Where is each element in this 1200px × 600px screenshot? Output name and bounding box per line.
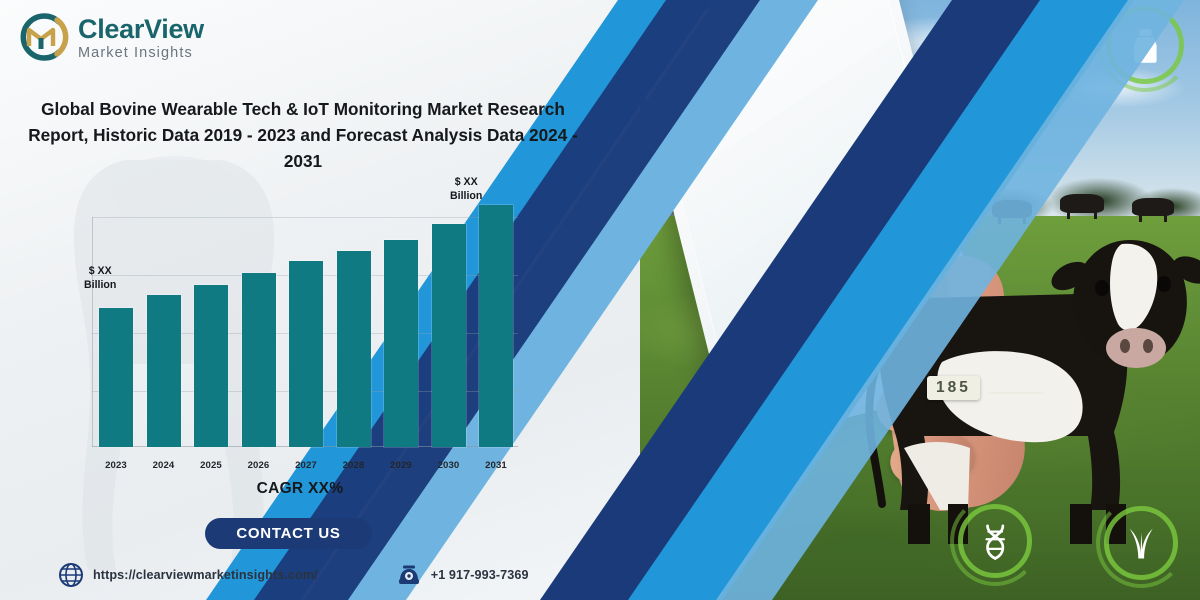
last-bar-value-line1: $ XX (455, 176, 478, 188)
milk-can-icon (1106, 6, 1184, 84)
bar-column (239, 205, 279, 447)
left-content-panel: ClearView Market Insights Global Bovine … (0, 0, 660, 600)
x-tick-2023: 2023 (96, 460, 136, 471)
first-bar-value-line1: $ XX (89, 265, 112, 277)
x-tick-2029: 2029 (381, 460, 421, 471)
bar-2031 (479, 205, 513, 447)
globe-icon (58, 562, 84, 588)
cagr-annotation: CAGR XX% (180, 480, 420, 498)
market-forecast-bar-chart: 202320242025202620272028202920302031 (78, 175, 518, 475)
foreground-dairy-cow (830, 148, 1200, 548)
brand-logo[interactable]: ClearView Market Insights (12, 8, 204, 66)
bar-column (334, 205, 374, 447)
clearview-c-m-monogram-icon (12, 8, 70, 66)
website-url: https://clearviewmarketinsights.com/ (93, 568, 318, 582)
footer-contact-bar: https://clearviewmarketinsights.com/ +1 … (58, 562, 529, 588)
phone-number: +1 917-993-7369 (431, 568, 529, 582)
x-tick-2030: 2030 (429, 460, 469, 471)
website-link[interactable]: https://clearviewmarketinsights.com/ (58, 562, 318, 588)
grass-sprout-icon (1104, 506, 1178, 580)
bar-2027 (289, 261, 323, 447)
x-tick-2028: 2028 (334, 460, 374, 471)
last-bar-value-line2: Billion (450, 190, 482, 202)
marketing-infographic-poster: ClearView Market Insights Global Bovine … (0, 0, 1200, 600)
page-title: Global Bovine Wearable Tech & IoT Monito… (14, 96, 592, 174)
bar-column (191, 205, 231, 447)
bar-column (381, 205, 421, 447)
bar-2023 (99, 308, 133, 447)
dna-helix-icon (958, 504, 1032, 578)
brand-name: ClearView (78, 16, 204, 43)
first-bar-value-label: $ XX Billion (84, 265, 116, 293)
phone-link[interactable]: +1 917-993-7369 (396, 562, 529, 588)
ear-tag-number: 185 (927, 376, 980, 400)
brand-tagline: Market Insights (78, 46, 204, 61)
bar-column (429, 205, 469, 447)
chart-y-axis (92, 217, 93, 447)
bar-column (144, 205, 184, 447)
analytics-chart-icon (957, 20, 1035, 98)
last-bar-value-label: $ XX Billion (450, 176, 482, 204)
bar-2028 (337, 251, 371, 447)
bar-2024 (147, 295, 181, 447)
bar-2026 (242, 273, 276, 447)
bar-column (476, 205, 516, 447)
x-tick-2026: 2026 (239, 460, 279, 471)
bar-2025 (194, 285, 228, 447)
bar-series (96, 205, 516, 447)
x-tick-2027: 2027 (286, 460, 326, 471)
contact-us-button[interactable]: CONTACT US (205, 518, 372, 549)
pasture-photo: 185 (640, 0, 1200, 600)
ear-tag-leader-line (988, 392, 1044, 394)
bar-2030 (432, 224, 466, 447)
bar-column (96, 205, 136, 447)
first-bar-value-line2: Billion (84, 279, 116, 291)
x-tick-2025: 2025 (191, 460, 231, 471)
x-axis-tick-labels: 202320242025202620272028202920302031 (96, 460, 516, 471)
x-tick-2024: 2024 (144, 460, 184, 471)
telephone-icon (396, 562, 422, 588)
bar-column (286, 205, 326, 447)
bar-2029 (384, 240, 418, 447)
x-tick-2031: 2031 (476, 460, 516, 471)
